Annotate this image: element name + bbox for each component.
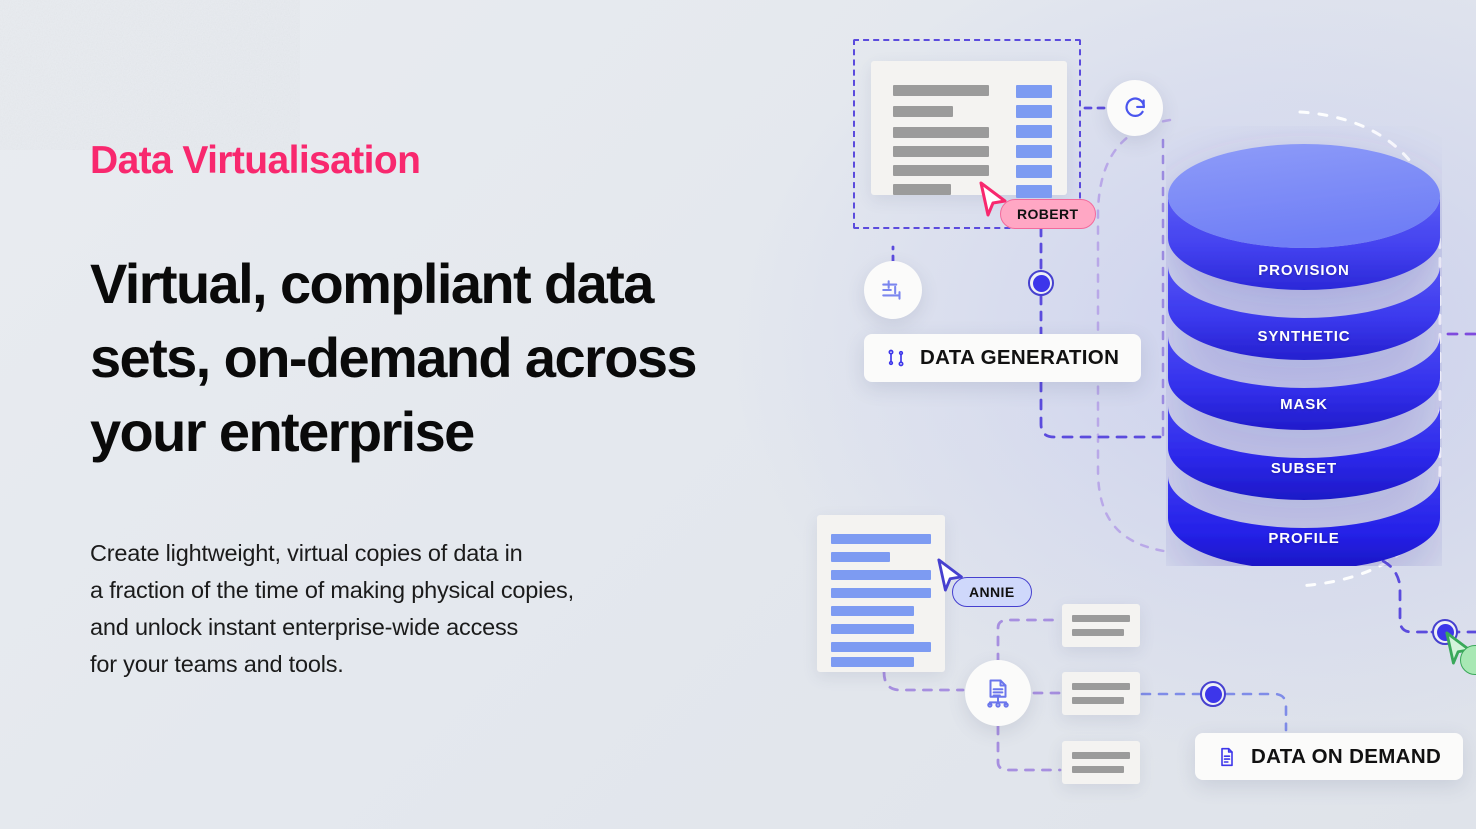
- cylinder-label-synthetic: SYNTHETIC: [1166, 328, 1442, 345]
- document-icon: [1217, 747, 1237, 767]
- data-cylinder: PROVISION SYNTHETIC MASK SUBSET PROFILE: [1166, 126, 1442, 566]
- nametag-robert-label: ROBERT: [1017, 206, 1079, 222]
- page-background: Data Virtualisation Virtual, compliant d…: [0, 0, 1476, 829]
- sliders-icon: [880, 277, 906, 303]
- nametag-robert: ROBERT: [1000, 199, 1096, 229]
- cylinder-shape: [1166, 126, 1442, 566]
- nametag-annie-label: ANNIE: [969, 584, 1015, 600]
- data-document-button[interactable]: [965, 660, 1031, 726]
- mini-card-1: [1062, 604, 1140, 647]
- filters-button[interactable]: [864, 261, 922, 319]
- cylinder-label-mask: MASK: [1166, 396, 1442, 413]
- data-generation-pill[interactable]: DATA GENERATION: [864, 334, 1141, 382]
- refresh-icon: [1122, 95, 1148, 121]
- cylinder-label-profile: PROFILE: [1166, 530, 1442, 547]
- wire-node-top: [1028, 270, 1054, 296]
- illustration: ROBERT: [0, 0, 1476, 829]
- refresh-button[interactable]: [1107, 80, 1163, 136]
- data-generation-label: DATA GENERATION: [920, 346, 1119, 370]
- wire-node-mid: [1200, 681, 1226, 707]
- cylinder-label-provision: PROVISION: [1166, 262, 1442, 279]
- cylinder-label-subset: SUBSET: [1166, 460, 1442, 477]
- document-network-icon: [983, 678, 1013, 708]
- mini-card-2: [1062, 672, 1140, 715]
- mini-card-3: [1062, 741, 1140, 784]
- data-on-demand-pill[interactable]: DATA ON DEMAND: [1195, 733, 1463, 780]
- data-on-demand-label: DATA ON DEMAND: [1251, 745, 1441, 769]
- table-card: [871, 61, 1067, 195]
- branch-icon: [886, 348, 906, 368]
- nametag-annie: ANNIE: [952, 577, 1032, 607]
- virtual-copy-card: [817, 515, 945, 672]
